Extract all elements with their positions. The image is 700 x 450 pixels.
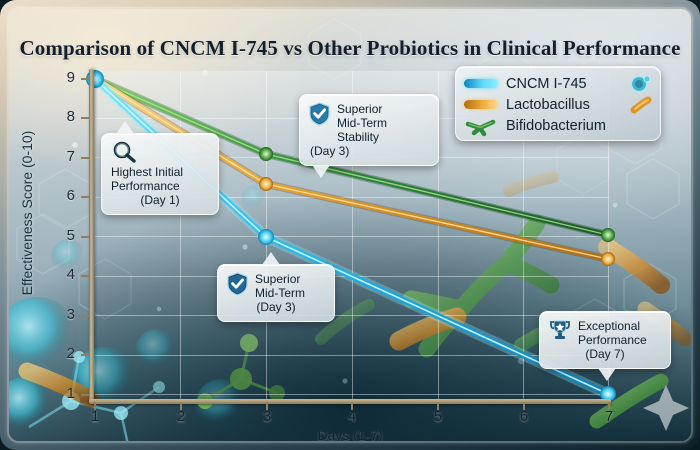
chart-title: Comparison of CNCM I-745 vs Other Probio… bbox=[9, 36, 691, 61]
annotation-superior-midterm[interactable]: Superior Mid-Term (Day 3) bbox=[217, 264, 335, 322]
annotation-line2: Performance bbox=[111, 179, 209, 193]
annotation-line1: Exceptional bbox=[578, 319, 647, 333]
legend-item-bifidobacterium[interactable]: Bifidobacterium bbox=[464, 115, 652, 136]
annotation-line1: Superior bbox=[337, 102, 429, 116]
legend[interactable]: CNCM I-745 Lactobacillus bbox=[455, 66, 661, 141]
bezel-inner-frame: 9 8 7 6 5 4 3 2 1 1 2 3 4 bbox=[7, 7, 693, 443]
legend-label: CNCM I-745 bbox=[506, 76, 587, 92]
x-axis-title: Days (1-7) bbox=[9, 427, 691, 443]
legend-swatch-blue bbox=[464, 79, 498, 88]
y-axis bbox=[89, 69, 94, 403]
y-tick-label: 2 bbox=[45, 345, 75, 362]
annotation-day: (Day 3) bbox=[310, 144, 429, 158]
annotation-line1: Highest Initial bbox=[111, 165, 209, 179]
y-tick-label: 7 bbox=[45, 148, 75, 165]
annotation-day: (Day 1) bbox=[111, 193, 209, 207]
x-tick-label: 7 bbox=[597, 408, 621, 425]
y-tick-label: 5 bbox=[45, 227, 75, 244]
legend-label: Bifidobacterium bbox=[506, 118, 606, 134]
yeast-cell-icon bbox=[630, 75, 652, 93]
callout-tail bbox=[262, 252, 280, 265]
x-tick-label: 5 bbox=[426, 408, 450, 425]
annotation-day: (Day 7) bbox=[549, 347, 661, 361]
annotation-line2: Mid-Term bbox=[255, 286, 305, 300]
y-tick-label: 9 bbox=[45, 69, 75, 86]
legend-label: Lactobacillus bbox=[506, 97, 590, 113]
x-tick-label: 6 bbox=[512, 408, 536, 425]
annotation-line2: Mid-Term Stability bbox=[337, 116, 429, 144]
legend-item-cncm-i-745[interactable]: CNCM I-745 bbox=[464, 73, 652, 94]
x-tick-label: 1 bbox=[83, 408, 107, 425]
x-tick-label: 3 bbox=[255, 408, 279, 425]
legend-swatch-orange bbox=[464, 100, 498, 109]
legend-item-lactobacillus[interactable]: Lactobacillus bbox=[464, 94, 652, 115]
callout-tail bbox=[312, 165, 330, 178]
x-axis bbox=[89, 399, 611, 404]
y-tick-label: 6 bbox=[45, 187, 75, 204]
annotation-exceptional-performance[interactable]: Exceptional Performance (Day 7) bbox=[539, 311, 671, 369]
y-tick-label: 1 bbox=[45, 385, 75, 402]
y-axis-title: Effectiveness Score (0-10) bbox=[19, 63, 35, 363]
shield-check-icon bbox=[309, 102, 330, 126]
legend-swatch-green-bifid bbox=[464, 117, 498, 135]
annotation-superior-stability[interactable]: Superior Mid-Term Stability (Day 3) bbox=[299, 94, 439, 166]
callout-tail bbox=[598, 368, 616, 381]
callout-tail bbox=[116, 121, 134, 134]
x-tick-label: 4 bbox=[340, 408, 364, 425]
trophy-icon bbox=[549, 319, 571, 341]
annotation-highest-initial[interactable]: Highest Initial Performance (Day 1) bbox=[101, 133, 219, 215]
annotation-line1: Superior bbox=[255, 272, 305, 286]
x-tick-label: 2 bbox=[169, 408, 193, 425]
y-tick-label: 3 bbox=[45, 306, 75, 323]
annotation-line2: Performance bbox=[578, 333, 647, 347]
rod-bacillus-icon bbox=[630, 96, 652, 114]
annotation-day: (Day 3) bbox=[227, 300, 325, 314]
magnifier-icon bbox=[111, 141, 209, 163]
chart-screenshot: 9 8 7 6 5 4 3 2 1 1 2 3 4 bbox=[0, 0, 700, 450]
shield-check-icon bbox=[227, 272, 248, 296]
y-tick-label: 4 bbox=[45, 266, 75, 283]
y-tick-label: 8 bbox=[45, 108, 75, 125]
